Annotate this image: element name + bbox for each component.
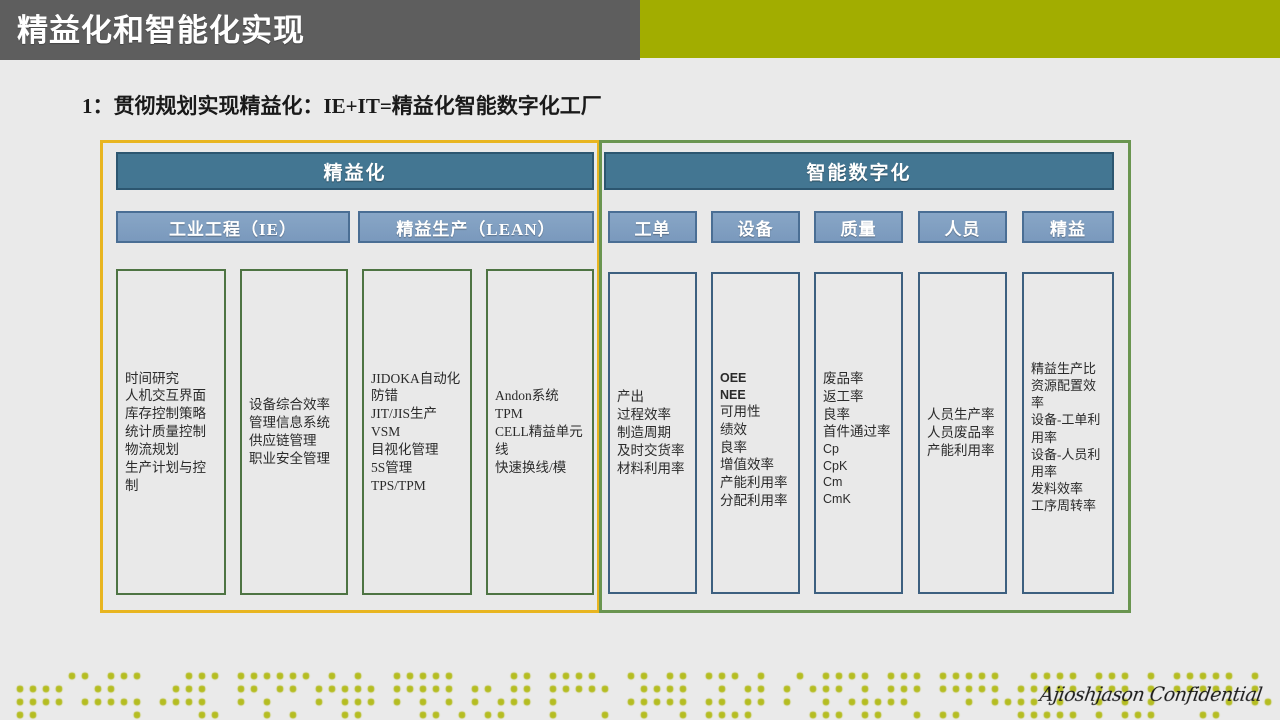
content-item: 发料效率 (1031, 480, 1105, 497)
section-title-digital: 智能数字化 (604, 152, 1114, 190)
slide-canvas: 精益化和智能化实现 1：贯彻规划实现精益化：IE+IT=精益化智能数字化工厂 精… (0, 0, 1280, 720)
content-item: CmK (823, 491, 894, 508)
content-item: 统计质量控制 (125, 423, 217, 441)
content-list-equipment: OEENEE可用性绩效良率增值效率产能利用率分配利用率 (713, 274, 798, 510)
content-item: 产出 (617, 388, 688, 406)
content-item: VSM (371, 423, 463, 441)
category-chip-workorder[interactable]: 工单 (608, 211, 697, 243)
content-item: 人员废品率 (927, 424, 998, 442)
content-box-lean-andon[interactable]: Andon系统TPMCELL精益单元线快速换线/模 (486, 269, 594, 595)
content-list-personnel: 人员生产率人员废品率产能利用率 (920, 406, 1005, 459)
section-title-lean: 精益化 (116, 152, 594, 190)
content-item: 资源配置效率 (1031, 377, 1105, 411)
content-item: JIDOKA自动化 (371, 370, 463, 388)
content-item: 分配利用率 (720, 492, 791, 510)
category-chip-lean[interactable]: 精益 (1022, 211, 1114, 243)
content-item: 材料利用率 (617, 460, 688, 478)
subtitle-text: 1：贯彻规划实现精益化：IE+IT=精益化智能数字化工厂 (82, 90, 602, 120)
content-item: 5S管理 (371, 459, 463, 477)
content-list-lean-jidoka: JIDOKA自动化防错JIT/JIS生产VSM目视化管理5S管理TPS/TPM (364, 370, 470, 495)
content-item: 及时交货率 (617, 442, 688, 460)
content-item: 人机交互界面 (125, 387, 217, 405)
content-list-ie-systems: 设备综合效率管理信息系统供应链管理职业安全管理 (242, 396, 346, 467)
content-box-equipment[interactable]: OEENEE可用性绩效良率增值效率产能利用率分配利用率 (711, 272, 800, 594)
content-item: 库存控制策略 (125, 405, 217, 423)
content-item: 可用性 (720, 403, 791, 421)
category-chip-personnel[interactable]: 人员 (918, 211, 1007, 243)
header-olive-block (640, 0, 1280, 58)
content-item: 生产计划与控制 (125, 459, 217, 495)
content-item: 良率 (720, 439, 791, 457)
content-item: 废品率 (823, 370, 894, 388)
content-item: 产能利用率 (720, 474, 791, 492)
content-item: 物流规划 (125, 441, 217, 459)
header-gray-block: 精益化和智能化实现 (0, 0, 640, 60)
content-item: Andon系统 (495, 387, 585, 405)
content-item: 首件通过率 (823, 423, 894, 441)
content-list-quality: 废品率返工率良率首件通过率CpCpKCmCmK (816, 274, 901, 507)
content-item: 工序周转率 (1031, 497, 1105, 514)
content-item: 设备-人员利用率 (1031, 446, 1105, 480)
content-box-quality[interactable]: 废品率返工率良率首件通过率CpCpKCmCmK (814, 272, 903, 594)
content-box-workorder[interactable]: 产出过程效率制造周期及时交货率材料利用率 (608, 272, 697, 594)
content-item: JIT/JIS生产 (371, 405, 463, 423)
category-chip-equipment[interactable]: 设备 (711, 211, 800, 243)
content-item: 管理信息系统 (249, 414, 339, 432)
category-chip-quality[interactable]: 质量 (814, 211, 903, 243)
page-title: 精益化和智能化实现 (0, 15, 305, 46)
content-item: Cm (823, 474, 894, 491)
content-list-lean-andon: Andon系统TPMCELL精益单元线快速换线/模 (488, 387, 592, 476)
content-item: Cp (823, 441, 894, 458)
content-box-ie-systems[interactable]: 设备综合效率管理信息系统供应链管理职业安全管理 (240, 269, 348, 595)
content-item: 职业安全管理 (249, 450, 339, 468)
category-chip-lean-production[interactable]: 精益生产（LEAN） (358, 211, 594, 243)
content-item: 返工率 (823, 388, 894, 406)
content-item: 目视化管理 (371, 441, 463, 459)
content-item: 设备-工单利用率 (1031, 411, 1105, 445)
content-item: 快速换线/模 (495, 459, 585, 477)
content-item: 制造周期 (617, 424, 688, 442)
content-item: 精益生产比 (1031, 360, 1105, 377)
category-chip-industrial-engineering[interactable]: 工业工程（IE） (116, 211, 350, 243)
content-item: CELL精益单元线 (495, 423, 585, 459)
content-list-lean-metrics: 精益生产比资源配置效率设备-工单利用率设备-人员利用率发料效率工序周转率 (1024, 274, 1112, 514)
content-list-workorder: 产出过程效率制造周期及时交货率材料利用率 (610, 388, 695, 477)
content-box-lean-jidoka[interactable]: JIDOKA自动化防错JIT/JIS生产VSM目视化管理5S管理TPS/TPM (362, 269, 472, 595)
confidential-watermark: Ajioshjason Confidential (1039, 684, 1264, 706)
content-item: OEE (720, 370, 791, 387)
slide-header-band: 精益化和智能化实现 (0, 0, 1280, 60)
content-item: NEE (720, 387, 791, 404)
content-box-personnel[interactable]: 人员生产率人员废品率产能利用率 (918, 272, 1007, 594)
content-item: 良率 (823, 406, 894, 424)
content-item: TPM (495, 405, 585, 423)
content-item: 产能利用率 (927, 442, 998, 460)
content-list-ie-time: 时间研究人机交互界面库存控制策略统计质量控制物流规划生产计划与控制 (118, 370, 224, 495)
content-item: 增值效率 (720, 456, 791, 474)
content-item: TPS/TPM (371, 477, 463, 495)
content-item: 过程效率 (617, 406, 688, 424)
content-item: 人员生产率 (927, 406, 998, 424)
content-item: 供应链管理 (249, 432, 339, 450)
content-item: 时间研究 (125, 370, 217, 388)
content-box-lean-metrics[interactable]: 精益生产比资源配置效率设备-工单利用率设备-人员利用率发料效率工序周转率 (1022, 272, 1114, 594)
content-box-ie-time[interactable]: 时间研究人机交互界面库存控制策略统计质量控制物流规划生产计划与控制 (116, 269, 226, 595)
content-item: 绩效 (720, 421, 791, 439)
content-item: CpK (823, 458, 894, 475)
content-item: 设备综合效率 (249, 396, 339, 414)
content-item: 防错 (371, 387, 463, 405)
